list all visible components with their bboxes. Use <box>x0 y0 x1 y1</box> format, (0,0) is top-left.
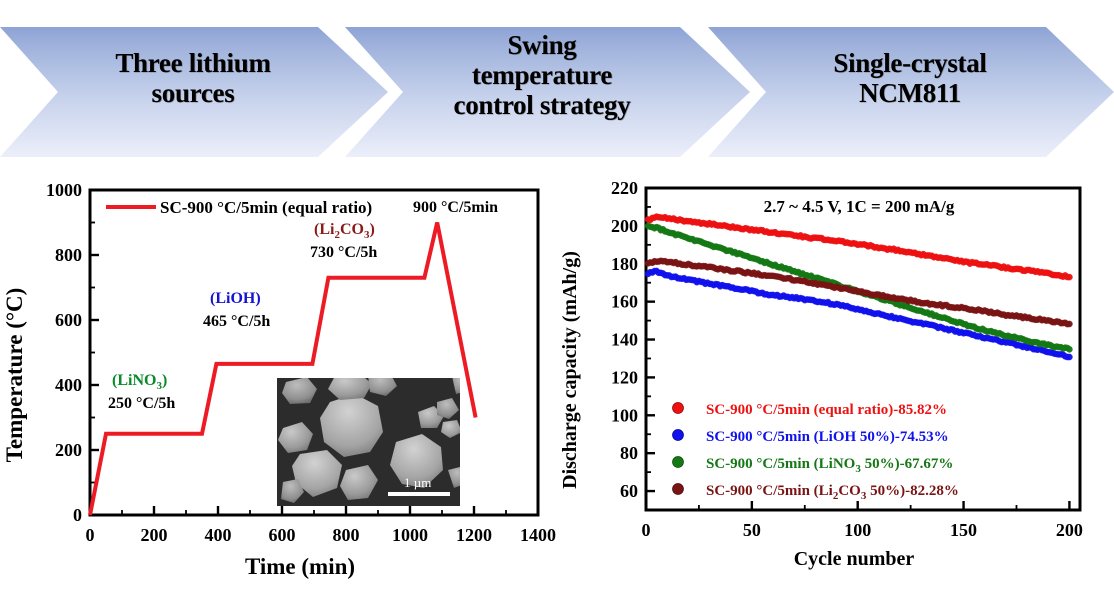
right-y-axis-title: Discharge capacity (mAh/g) <box>559 251 581 489</box>
left-xtick-200: 200 <box>141 525 168 545</box>
cycling-performance-svg: Discharge capacity (mAh/g) Cycle number … <box>554 170 1114 600</box>
left-ytick-400: 400 <box>55 375 82 395</box>
lino3-leg-1: SC-900 °C/5min (LiNO <box>706 456 855 472</box>
sem-inset: 1 µm <box>277 372 472 506</box>
left-ytick-1000: 1000 <box>46 180 82 200</box>
left-x-axis-title: Time (min) <box>245 554 355 579</box>
left-ytick-600: 600 <box>55 310 82 330</box>
temperature-profile-chart: Temperature (°C) Time (min) 020040060080… <box>0 170 560 600</box>
li2co3-leg-1: SC-900 °C/5min (Li <box>706 483 833 499</box>
left-ytick-0: 0 <box>73 505 82 525</box>
right-ytick-200: 200 <box>611 216 638 236</box>
right-x-axis-title: Cycle number <box>794 548 915 570</box>
linos-open: (LiNO <box>112 372 156 389</box>
right-ytick-60: 60 <box>620 481 638 501</box>
linos-close: ) <box>162 372 167 389</box>
legend-marker-li2co3 <box>673 484 684 495</box>
li2co3-leg-2: CO <box>838 483 861 499</box>
svg-text:(Li2CO3): (Li2CO3) <box>314 221 375 241</box>
right-legend: SC-900 °C/5min (equal ratio)-85.82% SC-9… <box>673 402 959 502</box>
right-ytick-100: 100 <box>611 405 638 425</box>
right-ytick-220: 220 <box>611 178 638 198</box>
left-xtick-600: 600 <box>269 525 296 545</box>
right-ytick-80: 80 <box>620 443 638 463</box>
annotation-lioh: (LiOH) 465 °C/5h <box>203 290 270 330</box>
li2co3-value: 730 °C/5h <box>310 244 377 261</box>
banner-arrows-svg <box>0 0 1114 170</box>
left-xtick-400: 400 <box>205 525 232 545</box>
left-xtick-0: 0 <box>86 525 95 545</box>
right-ytick-180: 180 <box>611 254 638 274</box>
right-xtick-0: 0 <box>642 520 651 540</box>
temperature-profile-svg: Temperature (°C) Time (min) 020040060080… <box>0 170 560 600</box>
annotation-linos: (LiNO3) 250 °C/5h <box>108 372 175 412</box>
left-ytick-800: 800 <box>55 245 82 265</box>
left-xtick-800: 800 <box>333 525 360 545</box>
linos-value: 250 °C/5h <box>108 395 175 412</box>
li2co3-close: ) <box>369 221 374 238</box>
legend-marker-lioh <box>673 430 684 441</box>
cycling-performance-chart: Discharge capacity (mAh/g) Cycle number … <box>554 170 1114 600</box>
left-y-axis-title: Temperature (°C) <box>2 288 27 463</box>
left-xtick-1000: 1000 <box>392 525 428 545</box>
lino3-leg-2: 50%)-67.67% <box>861 456 954 472</box>
li2co3-b: CO <box>340 221 364 238</box>
capacity-series-group <box>645 214 1072 361</box>
legend-label-li2co3: SC-900 °C/5min (Li2CO3 50%)-82.28% <box>706 483 959 502</box>
svg-text:(LiNO3): (LiNO3) <box>112 372 167 392</box>
right-xtick-100: 100 <box>844 520 871 540</box>
right-xtick-50: 50 <box>743 520 761 540</box>
right-ytick-120: 120 <box>611 367 638 387</box>
right-ytick-140: 140 <box>611 330 638 350</box>
right-xtick-150: 150 <box>950 520 977 540</box>
sem-scalebar <box>388 492 450 496</box>
right-chart-title: 2.7 ~ 4.5 V, 1C = 200 mA/g <box>764 197 955 216</box>
legend-marker-lino3 <box>673 457 684 468</box>
right-ytick-160: 160 <box>611 292 638 312</box>
arrow-step-1 <box>0 27 388 157</box>
left-xtick-1400: 1400 <box>520 525 556 545</box>
lioh-name: (LiOH) <box>210 290 261 307</box>
li2co3-leg-3: 50%)-82.28% <box>866 483 959 499</box>
legend-marker-equal-ratio <box>673 403 684 414</box>
left-xtick-1200: 1200 <box>456 525 492 545</box>
legend-label-lioh: SC-900 °C/5min (LiOH 50%)-74.53% <box>706 429 949 445</box>
legend-label-equal-ratio: SC-900 °C/5min (equal ratio)-85.82% <box>706 402 947 418</box>
arrow-step-2 <box>345 27 750 157</box>
left-ytick-200: 200 <box>55 440 82 460</box>
peak-annotation: 900 °C/5min <box>413 199 498 216</box>
right-xtick-200: 200 <box>1056 520 1083 540</box>
annotation-li2co3: (Li2CO3) 730 °C/5h <box>310 221 377 261</box>
lioh-value: 465 °C/5h <box>203 313 270 330</box>
figure-panels: Temperature (°C) Time (min) 020040060080… <box>0 170 1114 600</box>
left-legend-label: SC-900 °C/5min (equal ratio) <box>160 198 372 217</box>
left-legend: SC-900 °C/5min (equal ratio) <box>106 198 372 217</box>
sem-scalebar-label: 1 µm <box>404 475 431 490</box>
legend-label-lino3: SC-900 °C/5min (LiNO3 50%)-67.67% <box>706 456 953 475</box>
li2co3-a: (Li <box>314 221 335 238</box>
arrow-step-3 <box>708 27 1114 157</box>
process-flow-banner: Three lithium sources Swing temperature … <box>0 0 1114 170</box>
